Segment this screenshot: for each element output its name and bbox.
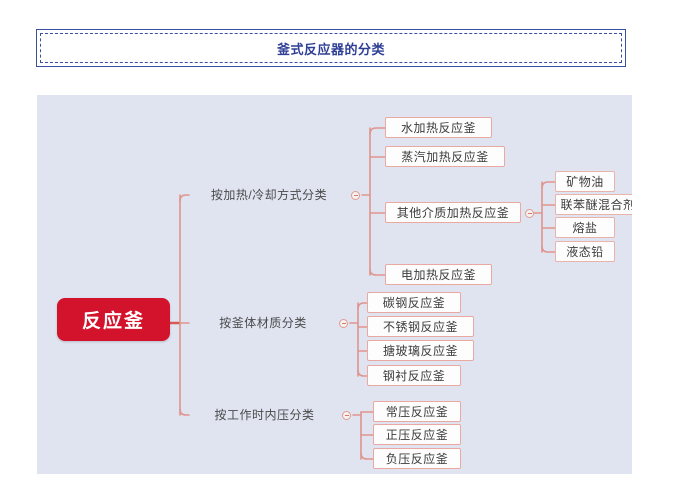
mindmap-subleaf-label: 联苯醚混合剂 [560,196,632,213]
mindmap-leaf-electric-heated[interactable]: 电加热反应釜 [385,264,492,285]
mindmap-leaf-negative-pressure[interactable]: 负压反应釜 [373,448,461,469]
mindmap-subleaf-liquid-lead[interactable]: 液态铅 [555,241,615,262]
mindmap-branch-vessel-material[interactable]: 按釜体材质分类 [189,311,337,334]
mindmap-root-label: 反应釜 [82,306,145,333]
mindmap-subleaf-molten-salt[interactable]: 熔盐 [555,217,615,238]
mindmap-leaf-label: 负压反应釜 [386,450,449,467]
mindmap-leaf-label: 不锈钢反应釜 [383,318,458,335]
mindmap-leaf-label: 常压反应釜 [386,403,449,420]
minus-circle-icon-branch-vessel-material[interactable] [339,319,348,328]
minus-circle-icon-branch-working-pressure[interactable] [342,411,351,420]
mindmap-subleaf-label: 矿物油 [566,173,604,190]
mindmap-leaf-label: 搪玻璃反应釜 [383,342,458,359]
title-inner-dashed-frame: 釜式反应器的分类 [40,33,622,63]
mindmap-branch-label: 按釜体材质分类 [219,314,307,331]
mindmap-leaf-label: 正压反应釜 [386,426,449,443]
mindmap-leaf-label: 其他介质加热反应釜 [397,204,510,221]
mindmap-branch-label: 按工作时内压分类 [214,406,314,423]
mindmap-leaf-water-heated[interactable]: 水加热反应釜 [385,117,492,138]
mindmap-subleaf-biphenyl-ether-mixture[interactable]: 联苯醚混合剂 [555,194,632,215]
mindmap-branch-working-pressure[interactable]: 按工作时内压分类 [189,403,340,426]
mindmap-leaf-label: 碳钢反应釜 [383,294,446,311]
mindmap-leaf-glass-lined[interactable]: 搪玻璃反应釜 [367,340,474,361]
mindmap-subleaf-label: 液态铅 [566,243,604,260]
page-title: 釜式反应器的分类 [277,39,385,58]
minus-circle-icon-other-medium-heated[interactable] [525,209,534,218]
mindmap-canvas[interactable]: 反应釜 按加热/冷却方式分类 水加热反应釜 蒸汽加热反应釜 其他介质加热反应釜 … [37,95,632,474]
document-title-banner: 釜式反应器的分类 [36,29,626,67]
minus-circle-icon-branch-heating-cooling[interactable] [351,191,360,200]
mindmap-leaf-stainless-steel[interactable]: 不锈钢反应釜 [367,316,474,337]
mindmap-leaf-positive-pressure[interactable]: 正压反应釜 [373,424,461,445]
mindmap-branch-heating-cooling[interactable]: 按加热/冷却方式分类 [189,183,349,206]
mindmap-leaf-label: 电加热反应釜 [401,266,476,283]
mindmap-subleaf-mineral-oil[interactable]: 矿物油 [555,171,615,192]
mindmap-leaf-label: 钢衬反应釜 [383,367,446,384]
mindmap-leaf-other-medium-heated[interactable]: 其他介质加热反应釜 [385,202,521,223]
mindmap-leaf-steam-heated[interactable]: 蒸汽加热反应釜 [385,146,505,167]
mindmap-leaf-atmospheric-pressure[interactable]: 常压反应釜 [373,401,461,422]
mindmap-root-node[interactable]: 反应釜 [57,298,170,341]
mindmap-branch-label: 按加热/冷却方式分类 [211,186,327,203]
mindmap-subleaf-label: 熔盐 [572,219,597,236]
mindmap-leaf-carbon-steel[interactable]: 碳钢反应釜 [367,292,461,313]
mindmap-leaf-steel-lined[interactable]: 钢衬反应釜 [367,365,461,386]
mindmap-leaf-label: 蒸汽加热反应釜 [401,148,489,165]
mindmap-leaf-label: 水加热反应釜 [401,119,476,136]
